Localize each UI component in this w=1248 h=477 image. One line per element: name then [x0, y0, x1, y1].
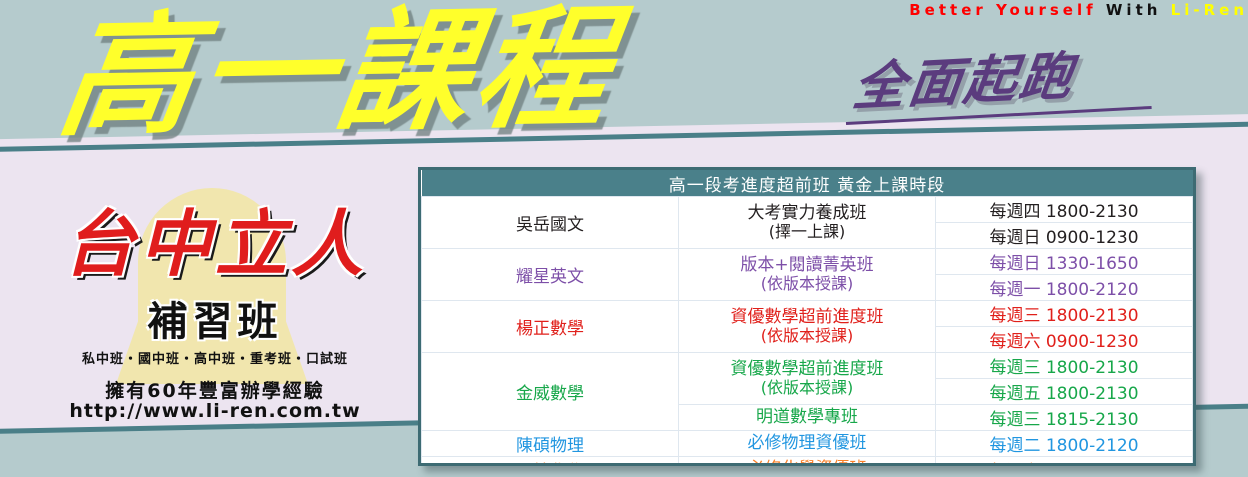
tagline-word-yourself: Yourself — [996, 1, 1097, 19]
logo-experience-text: 擁有60年豐富辦學經驗 — [20, 376, 410, 403]
logo-subname: 補習班 — [20, 302, 410, 342]
cell-teacher: 金威數學 — [422, 353, 679, 431]
cell-course: 資優數學超前進度班 (依版本授課) — [679, 353, 936, 405]
cell-time: 每週四 1800-2130 — [936, 197, 1193, 223]
cell-teacher: 王皓化學 — [422, 457, 679, 467]
logo-website-url[interactable]: http://www.li-ren.com.tw — [20, 400, 410, 422]
cell-course: 資優數學超前進度班 (依版本授課) — [679, 301, 936, 353]
page-subtitle: 全面起跑 — [850, 51, 1078, 114]
cell-time: 每週六 0900-1230 — [936, 327, 1193, 353]
logo-name: 台中立人 — [20, 208, 410, 280]
cell-teacher: 楊正數學 — [422, 301, 679, 353]
table-row: 耀星英文 版本+閱讀菁英班 (依版本授課) 每週日 1330-1650 — [422, 249, 1193, 275]
tagline-word-liren: Li-Ren — [1171, 1, 1248, 19]
schedule-table-card: 高一段考進度超前班 黃金上課時段 吳岳國文 大考實力養成班 (擇一上課) 每週四… — [418, 167, 1196, 466]
cell-time: 每週三 1815-2130 — [936, 405, 1193, 431]
table-row: 陳碩物理 必修物理資優班 每週二 1800-2120 — [422, 431, 1193, 457]
cell-teacher: 耀星英文 — [422, 249, 679, 301]
table-row: 楊正數學 資優數學超前進度班 (依版本授課) 每週三 1800-2130 — [422, 301, 1193, 327]
logo-class-list: 私中班・國中班・高中班・重考班・口試班 — [20, 348, 410, 367]
course-subtitle: (依版本授課) — [681, 327, 933, 345]
cell-time: 每週三 1800-2130 — [936, 301, 1193, 327]
schedule-table: 高一段考進度超前班 黃金上課時段 吳岳國文 大考實力養成班 (擇一上課) 每週四… — [421, 170, 1193, 466]
cell-course: 明道數學專班 — [679, 405, 936, 431]
cell-time: 每週日 0900-1230 — [936, 223, 1193, 249]
page-title: 高一課程 — [52, 2, 624, 144]
cell-course: 必修化學資優班 — [679, 457, 936, 467]
tagline-word-better: Better — [909, 1, 987, 19]
cell-time: 每週六 1330-1650 — [936, 457, 1193, 467]
schedule-table-header: 高一段考進度超前班 黃金上課時段 — [422, 170, 1193, 197]
table-row: 王皓化學 必修化學資優班 每週六 1330-1650 — [422, 457, 1193, 467]
course-title: 資優數學超前進度班 — [731, 307, 884, 327]
cell-teacher: 吳岳國文 — [422, 197, 679, 249]
schedule-table-body: 吳岳國文 大考實力養成班 (擇一上課) 每週四 1800-2130 每週日 09… — [422, 197, 1193, 467]
course-title: 大考實力養成班 — [748, 203, 867, 223]
course-title: 版本+閱讀菁英班 — [740, 255, 873, 275]
cell-time: 每週日 1330-1650 — [936, 249, 1193, 275]
course-title: 資優數學超前進度班 — [731, 359, 884, 379]
tagline-word-with: With — [1106, 1, 1162, 19]
poster-canvas: Better Yourself With Li-Ren 高一課程 全面起跑 台中… — [0, 0, 1248, 477]
cell-course: 必修物理資優班 — [679, 431, 936, 457]
cell-time: 每週五 1800-2130 — [936, 379, 1193, 405]
course-subtitle: (依版本授課) — [681, 275, 933, 293]
cell-course: 大考實力養成班 (擇一上課) — [679, 197, 936, 249]
brand-logo: 台中立人 補習班 私中班・國中班・高中班・重考班・口試班 擁有60年豐富辦學經驗… — [20, 186, 410, 426]
table-row: 吳岳國文 大考實力養成班 (擇一上課) 每週四 1800-2130 — [422, 197, 1193, 223]
cell-time: 每週二 1800-2120 — [936, 431, 1193, 457]
cell-time: 每週三 1800-2130 — [936, 353, 1193, 379]
cell-time: 每週一 1800-2120 — [936, 275, 1193, 301]
cell-course: 版本+閱讀菁英班 (依版本授課) — [679, 249, 936, 301]
course-subtitle: (擇一上課) — [681, 223, 933, 241]
cell-teacher: 陳碩物理 — [422, 431, 679, 457]
table-row: 金威數學 資優數學超前進度班 (依版本授課) 每週三 1800-2130 — [422, 353, 1193, 379]
course-subtitle: (依版本授課) — [681, 379, 933, 397]
